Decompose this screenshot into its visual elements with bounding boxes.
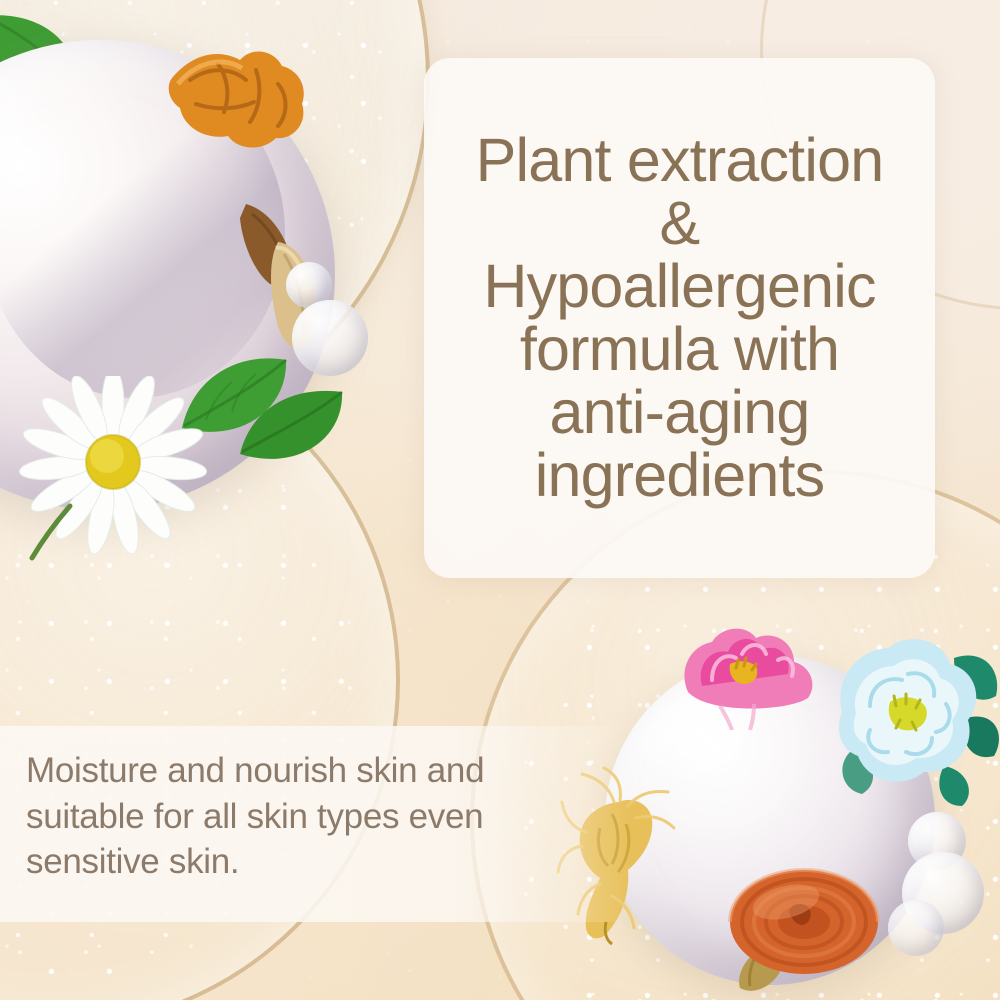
headline-card: Plant extraction & Hypoallergenic formul…: [424, 58, 935, 578]
water-droplet-small: [888, 900, 944, 956]
water-droplet-large: [292, 300, 368, 376]
reishi-mushroom-icon: [716, 862, 886, 1000]
pink-peony-icon: [668, 620, 828, 730]
turmeric-root-icon: [166, 44, 312, 156]
caption-text: Moisture and nourish skin and suitable f…: [26, 748, 606, 885]
headline-text: Plant extraction & Hypoallergenic formul…: [458, 129, 902, 508]
blue-peony-icon: [826, 634, 1000, 810]
mint-leaf-icon: [236, 386, 348, 474]
chamomile-daisy-icon: [18, 376, 208, 566]
product-marketing-image: Plant extraction & Hypoallergenic formul…: [0, 0, 1000, 1000]
